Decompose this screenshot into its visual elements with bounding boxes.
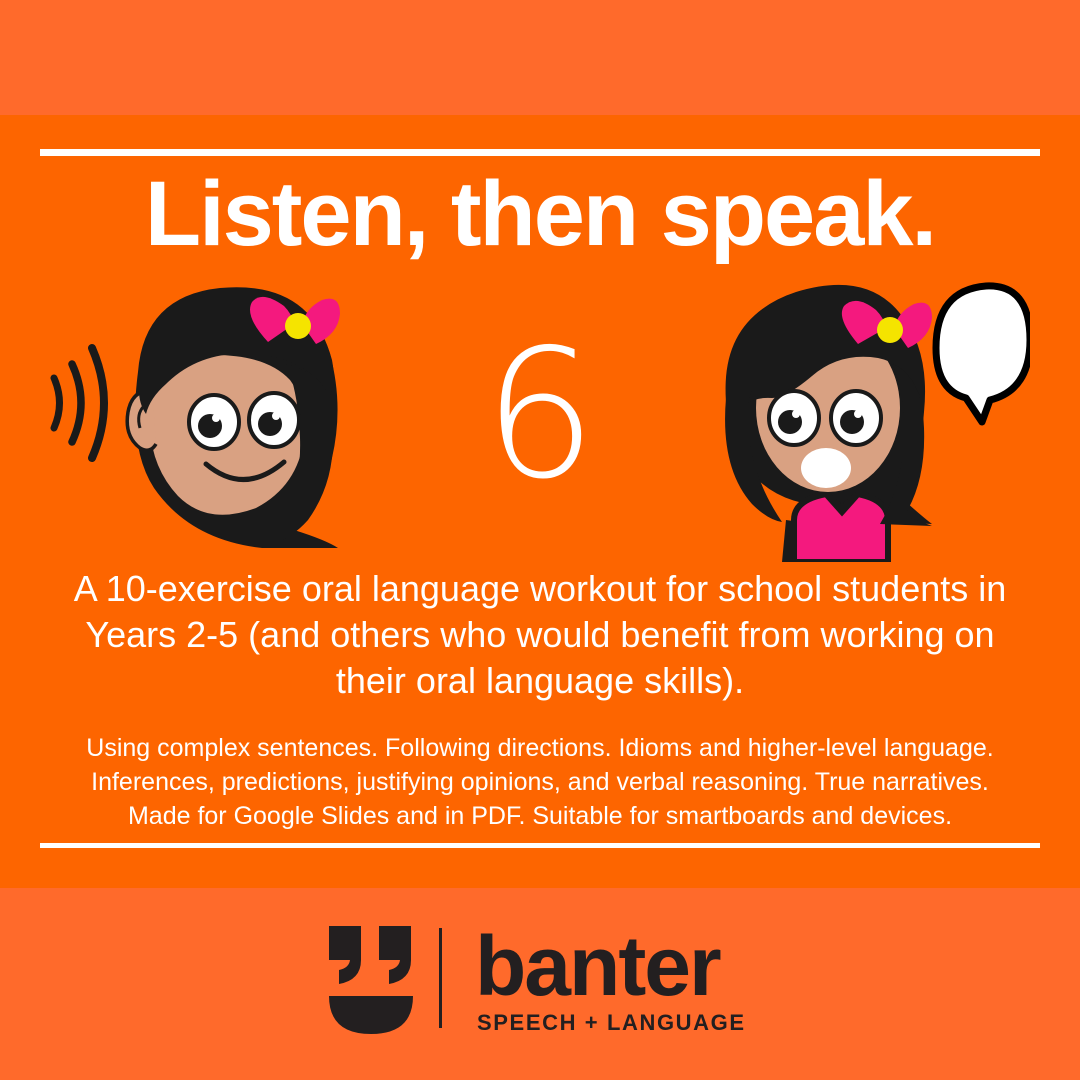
shirt (794, 494, 888, 562)
mouth-open (801, 448, 851, 488)
speaking-girl-illustration (690, 272, 1030, 562)
speech-bubble-icon (936, 286, 1030, 422)
lead-paragraph: A 10-exercise oral language workout for … (60, 566, 1020, 704)
logo-wordmark: banter (475, 924, 720, 1008)
detail-paragraph: Using complex sentences. Following direc… (36, 731, 1044, 833)
divider-rule-top (40, 149, 1040, 156)
logo-divider (439, 928, 442, 1028)
detail-line-1: Using complex sentences. Following direc… (36, 731, 1044, 765)
divider-rule-bottom (40, 843, 1040, 848)
banter-logo: banter SPEECH + LANGUAGE (325, 922, 755, 1040)
detail-line-3: Made for Google Slides and in PDF. Suita… (36, 799, 1044, 833)
logo-tagline: SPEECH + LANGUAGE (477, 1010, 746, 1036)
poster-canvas: Listen, then speak. (0, 0, 1080, 1080)
background-band-top (0, 0, 1080, 115)
detail-line-2: Inferences, predictions, justifying opin… (36, 765, 1044, 799)
page-title: Listen, then speak. (0, 168, 1080, 260)
banter-smiley-icon (325, 922, 417, 1034)
